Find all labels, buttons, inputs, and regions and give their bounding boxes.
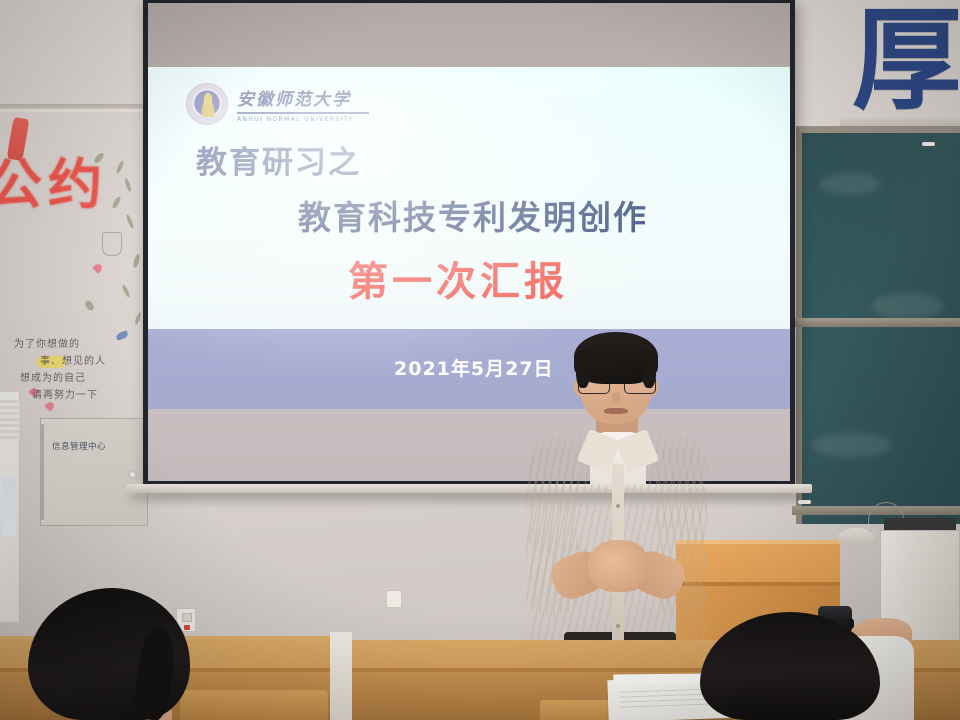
cabinet-hinge (40, 424, 44, 520)
wall-quote-line-3: 想成为的自己 (20, 370, 154, 387)
air-conditioner-label (2, 478, 16, 536)
wall-outlet[interactable] (386, 590, 402, 608)
screen-unlit-top (148, 3, 790, 67)
slide-subtitle-line: 教育研习之 (196, 137, 361, 182)
chair-back (180, 690, 328, 720)
desk-aisle-gap (330, 632, 352, 720)
university-seal-icon (186, 83, 228, 125)
university-wordmark: 安徽师范大学 ANHUI NORMAL UNIVERSITY (237, 85, 369, 122)
wall-character-hou: 厚 (852, 8, 958, 120)
wall-quote-text: 为了你想做的 事、想见的人 想成为的自己 请再努力一下 (14, 336, 154, 404)
cabinet-label: 信息管理中心 (52, 440, 138, 452)
wall-quote-line-1: 为了你想做的 (14, 336, 154, 353)
student-foreground-right (700, 612, 910, 720)
chalk-stick[interactable] (922, 142, 935, 146)
chalk-smudge (820, 173, 880, 195)
chalkboard-rail (792, 318, 960, 327)
air-conditioner-vent (0, 400, 20, 440)
university-logo-block: 安徽师范大学 ANHUI NORMAL UNIVERSITY (186, 83, 369, 125)
chalk-smudge (872, 293, 944, 319)
wall-quote-line-2: 事、想见的人 (40, 353, 154, 370)
shirt-button (616, 504, 620, 508)
classroom-photo: 公约 为了你想做的 事、想见的人 想成为的自己 请再努力一下 信息管理中心 厚 (0, 0, 960, 720)
university-name-cn: 安徽师范大学 (237, 85, 369, 110)
wall-quote-line-4: 请再努力一下 (32, 387, 154, 404)
presenter-mouth (604, 408, 628, 414)
slide-main-title: 教育科技专利发明创作 (298, 191, 648, 239)
slide-highlight-title: 第一次汇报 (348, 249, 568, 307)
computer-mouse[interactable] (838, 528, 874, 546)
shirt-button (616, 624, 620, 628)
chalk-smudge (812, 433, 892, 457)
birdcage-decal (102, 232, 122, 256)
presenter-hair-side-left (576, 350, 590, 388)
presenter-hair-side-right (642, 350, 656, 388)
presenter-nose (612, 392, 620, 404)
wordmark-rule (237, 112, 369, 113)
cabinet-lock-icon[interactable] (128, 470, 137, 479)
wall-moulding-highlight (0, 109, 150, 112)
student-foreground-left (28, 588, 190, 720)
university-name-en: ANHUI NORMAL UNIVERSITY (237, 116, 369, 123)
presenter-clasped-hands (588, 540, 648, 592)
